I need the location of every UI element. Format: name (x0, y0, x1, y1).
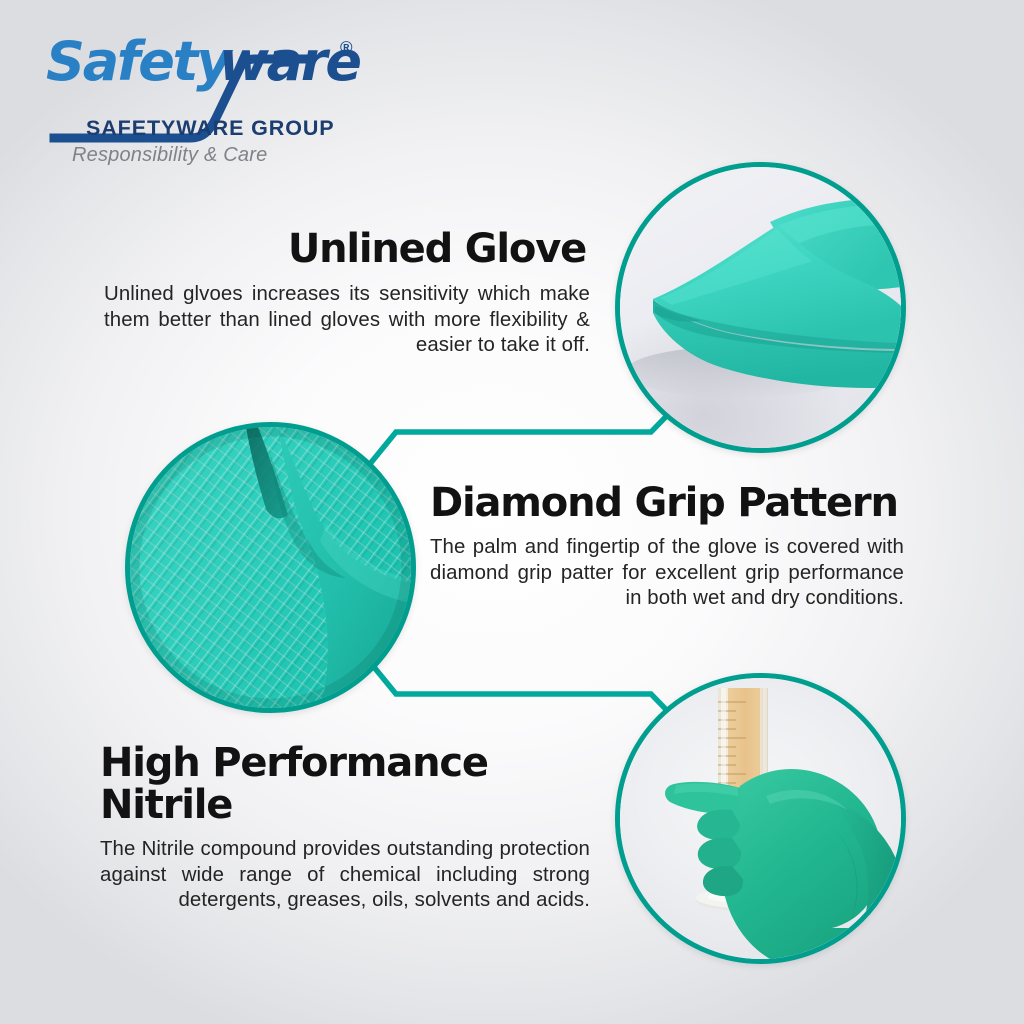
folded-glove-illustration (620, 167, 901, 448)
feature-block-unlined-glove: Unlined Glove Unlined glvoes increases i… (104, 228, 590, 359)
image-nitrile-hand (615, 673, 906, 964)
feature-title-nitrile: High Performance Nitrile (100, 742, 590, 826)
feature-body-unlined-glove: Unlined glvoes increases its sensitivity… (104, 282, 590, 359)
nitrile-hand-photo (620, 678, 901, 959)
unlined-glove-photo (620, 167, 901, 448)
gloved-hand-cylinder-illustration (620, 678, 901, 959)
feature-body-nitrile: The Nitrile compound provides outstandin… (100, 837, 590, 914)
grip-glove-shading (130, 427, 411, 708)
image-diamond-grip (125, 422, 416, 713)
feature-block-nitrile: High Performance Nitrile The Nitrile com… (100, 742, 590, 914)
feature-block-diamond-grip: Diamond Grip Pattern The palm and finger… (430, 482, 904, 612)
image-unlined-glove (615, 162, 906, 453)
feature-title-unlined-glove: Unlined Glove (104, 228, 590, 270)
infographic-poster: Safety ware ® SAFETYWARE GROUP Responsib… (0, 0, 1024, 1024)
feature-title-diamond-grip: Diamond Grip Pattern (430, 482, 904, 524)
feature-body-diamond-grip: The palm and fingertip of the glove is c… (430, 535, 904, 612)
diamond-grip-photo (130, 427, 411, 708)
